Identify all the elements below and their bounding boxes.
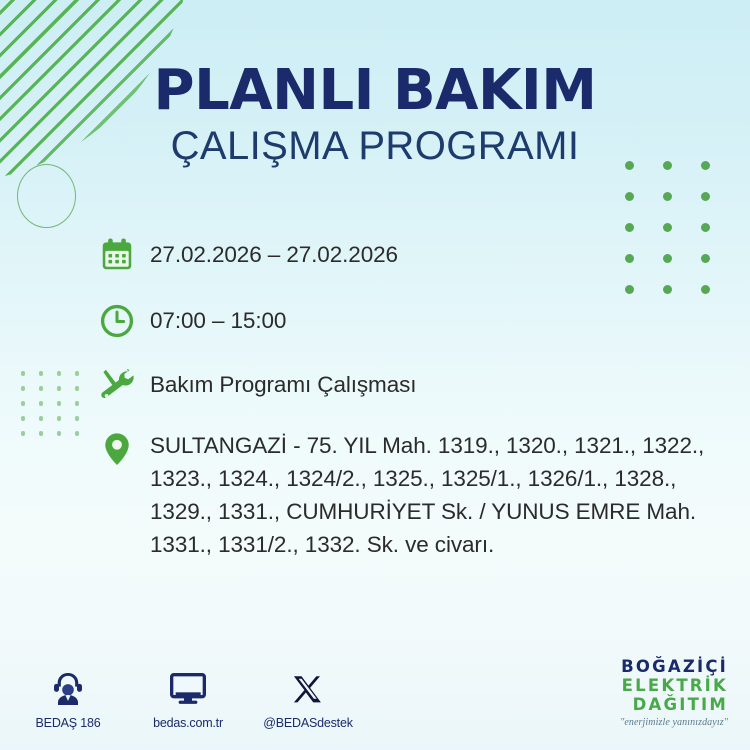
poster-footer: BEDAŞ 186 bedas.com.tr xyxy=(0,648,750,734)
headset-support-icon xyxy=(22,667,114,709)
contact-phone-label: BEDAŞ 186 xyxy=(22,716,114,730)
location-pin-icon xyxy=(98,428,150,476)
page-title: PLANLI BAKIM xyxy=(0,62,750,119)
brand-line-bogazici: BOĞAZİÇİ xyxy=(620,659,728,676)
outage-location-value: SULTANGAZİ - 75. YIL Mah. 1319., 1320., … xyxy=(150,428,730,561)
circle-outline-decoration xyxy=(17,164,76,228)
calendar-icon xyxy=(98,234,150,282)
outage-date-value: 27.02.2026 – 27.02.2026 xyxy=(150,234,730,271)
outage-work-type-value: Bakım Programı Çalışması xyxy=(150,364,730,401)
contact-website-label: bedas.com.tr xyxy=(142,716,234,730)
contact-website[interactable]: bedas.com.tr xyxy=(142,667,234,730)
company-logo: BOĞAZİÇİ ELEKTRİK DAĞITIM "enerjimizle y… xyxy=(620,659,728,729)
detail-row-time: 07:00 – 15:00 xyxy=(98,300,730,348)
x-twitter-icon xyxy=(262,667,354,709)
clock-icon xyxy=(98,300,150,348)
tools-icon xyxy=(98,364,150,412)
contact-phone[interactable]: BEDAŞ 186 xyxy=(22,667,114,730)
detail-row-date: 27.02.2026 – 27.02.2026 xyxy=(98,234,730,282)
contact-x-account[interactable]: @BEDASdestek xyxy=(262,667,354,730)
detail-row-work-type: Bakım Programı Çalışması xyxy=(98,364,730,412)
page-subtitle: ÇALIŞMA PROGRAMI xyxy=(0,125,750,167)
contact-x-label: @BEDASdestek xyxy=(262,716,354,730)
brand-tagline: "enerjimizle yanınızdayız" xyxy=(620,718,728,728)
outage-time-value: 07:00 – 15:00 xyxy=(150,300,730,337)
brand-line-elektrik: ELEKTRİK xyxy=(620,678,728,695)
outage-details: 27.02.2026 – 27.02.2026 07:00 – 15:00 xyxy=(98,234,730,561)
poster-canvas: PLANLI BAKIM ÇALIŞMA PROGRAMI xyxy=(0,0,750,750)
monitor-icon xyxy=(142,667,234,709)
dot-grid-left-decoration xyxy=(14,366,86,441)
contact-channels: BEDAŞ 186 bedas.com.tr xyxy=(22,667,354,730)
brand-line-dagitim: DAĞITIM xyxy=(620,697,728,714)
poster-header: PLANLI BAKIM ÇALIŞMA PROGRAMI xyxy=(0,62,750,167)
detail-row-location: SULTANGAZİ - 75. YIL Mah. 1319., 1320., … xyxy=(98,428,730,561)
